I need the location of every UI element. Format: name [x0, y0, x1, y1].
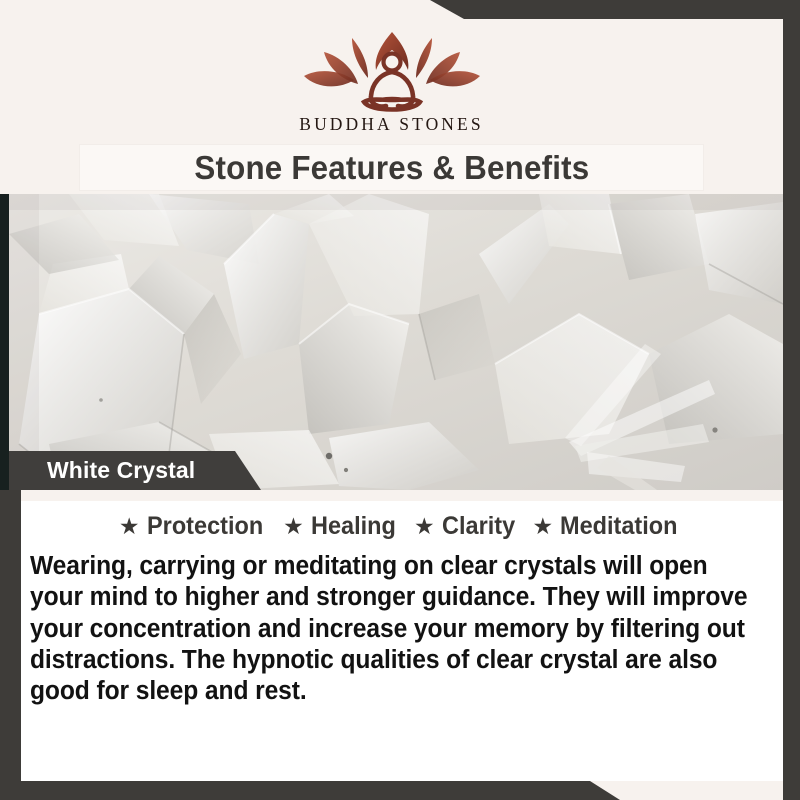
content-panel: ★ Protection ★ Healing ★ Clarity ★ Medit… — [21, 490, 783, 781]
page-title-bar: Stone Features & Benefits — [80, 145, 703, 190]
star-icon: ★ — [414, 515, 435, 538]
benefit-item-protection: ★ Protection — [119, 512, 270, 541]
description-text: Wearing, carrying or meditating on clear… — [30, 551, 748, 708]
page-title: Stone Features & Benefits — [194, 149, 589, 187]
header: BUDDHA STONES Stone Features & Benefits — [0, 19, 783, 194]
photo-label-bar: White Crystal — [9, 451, 261, 490]
corner-band-right — [783, 19, 800, 800]
benefits-row: ★ Protection ★ Healing ★ Clarity ★ Medit… — [21, 512, 783, 541]
photo-label-text: White Crystal — [47, 457, 195, 484]
benefit-label: Meditation — [560, 512, 678, 541]
brand-name: BUDDHA STONES — [299, 114, 483, 135]
corner-band-bottom — [0, 781, 620, 800]
lotus-meditation-logo-icon — [292, 29, 492, 113]
benefit-item-clarity: ★ Clarity — [414, 512, 519, 541]
star-icon: ★ — [283, 515, 304, 538]
benefit-label: Protection — [147, 512, 263, 541]
white-crystal-cluster-photo: White Crystal — [9, 194, 783, 490]
corner-band-top-right — [430, 0, 800, 19]
star-icon: ★ — [119, 515, 140, 538]
content-top-fade — [21, 490, 783, 501]
benefit-item-healing: ★ Healing — [283, 512, 401, 541]
infographic-canvas: BUDDHA STONES Stone Features & Benefits — [0, 0, 800, 800]
benefit-label: Healing — [311, 512, 396, 541]
corner-band-left — [0, 489, 21, 800]
benefit-item-meditation: ★ Meditation — [532, 512, 685, 541]
benefit-label: Clarity — [442, 512, 515, 541]
star-icon: ★ — [532, 515, 553, 538]
photo-left-edge-strip — [0, 194, 9, 490]
